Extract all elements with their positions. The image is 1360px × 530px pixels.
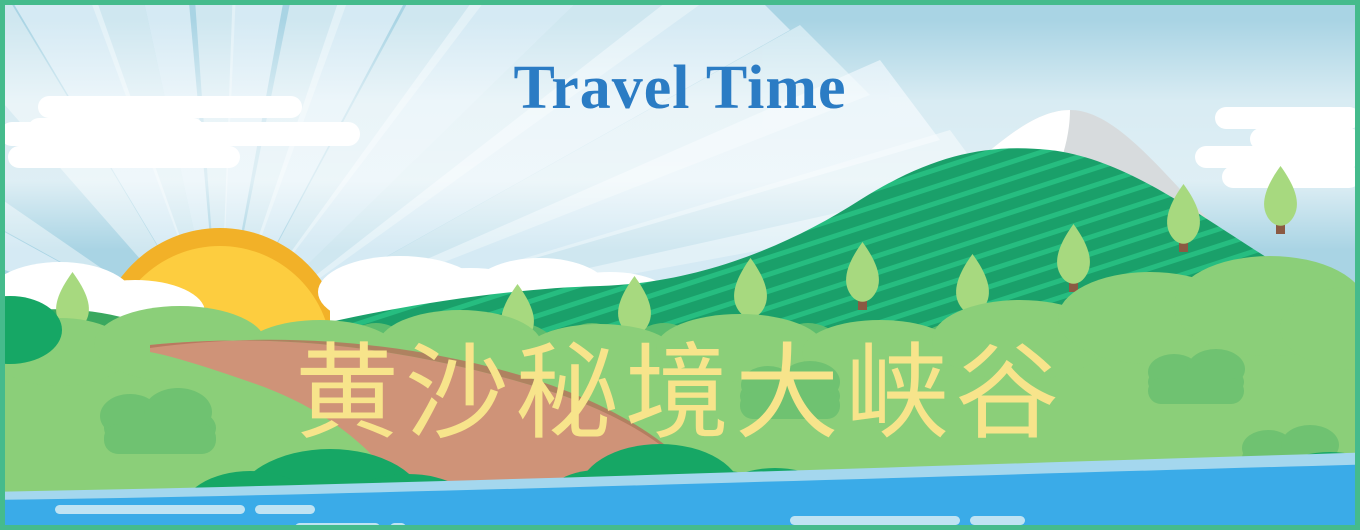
- bush: [100, 388, 216, 454]
- bush: [1148, 349, 1245, 404]
- travel-banner: Travel Time 黄沙秘境大峡谷: [0, 0, 1360, 530]
- bush: [740, 361, 840, 419]
- scenery-illustration: [0, 0, 1360, 530]
